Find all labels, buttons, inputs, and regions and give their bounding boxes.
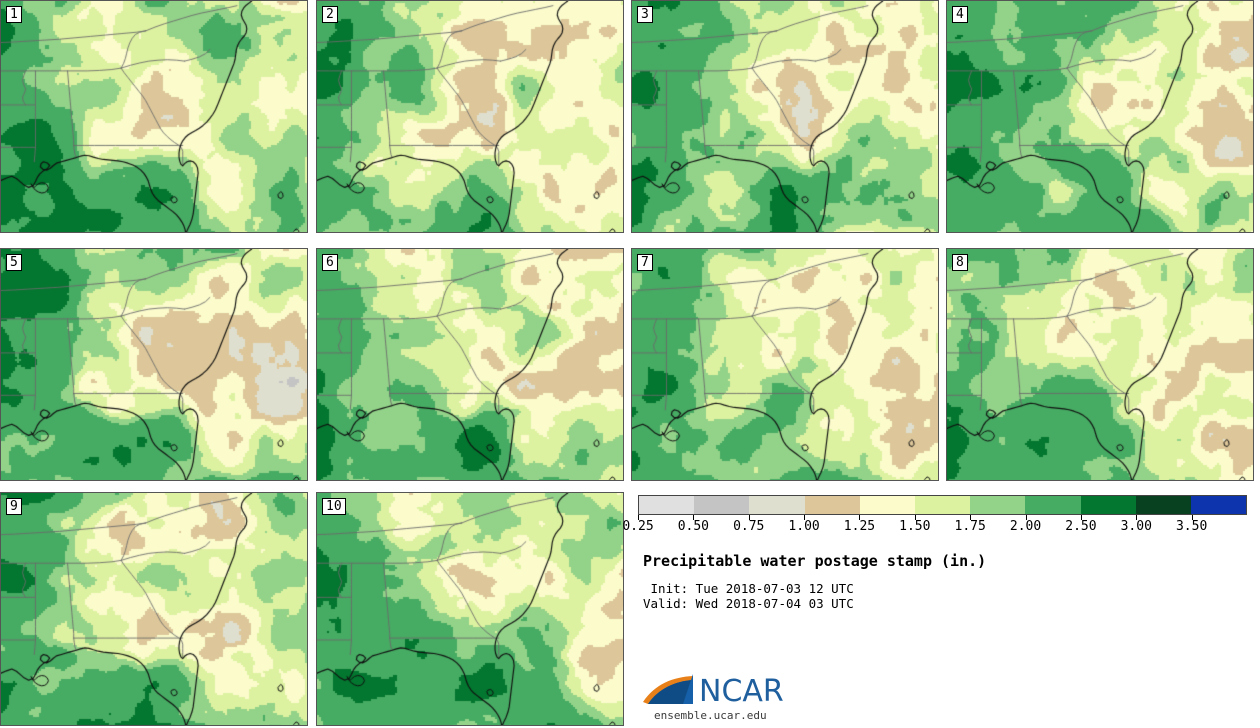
- colorbar-swatch: [749, 496, 804, 514]
- colorbar-swatch: [1025, 496, 1080, 514]
- figure-timestamps: Init: Tue 2018-07-03 12 UTC Valid: Wed 2…: [643, 581, 854, 611]
- ncar-url: ensemble.ucar.edu: [654, 709, 767, 722]
- colorbar-tick-label: 1.50: [885, 519, 945, 534]
- panel-label: 7: [637, 254, 653, 271]
- panel-label: 9: [6, 498, 22, 515]
- panel-label: 8: [952, 254, 968, 271]
- panel-member-7[interactable]: 7: [631, 248, 939, 481]
- panel-member-5[interactable]: 5: [0, 248, 308, 481]
- colorbar-swatch: [639, 496, 694, 514]
- colorbar-swatch: [860, 496, 915, 514]
- colorbar-tick-label: 1.75: [940, 519, 1000, 534]
- precip-water-field: [947, 249, 1254, 481]
- colorbar-swatch: [970, 496, 1025, 514]
- panel-member-8[interactable]: 8: [946, 248, 1254, 481]
- colorbar-tick-label: 2.00: [996, 519, 1056, 534]
- valid-time-line: Valid: Wed 2018-07-04 03 UTC: [643, 596, 854, 611]
- panel-label: 1: [6, 6, 22, 23]
- figure-title: Precipitable water postage stamp (in.): [643, 552, 986, 570]
- colorbar-tick-labels: 0.250.500.751.001.251.501.752.002.503.00…: [638, 519, 1247, 535]
- logo-wordmark: NCAR: [699, 674, 784, 708]
- panel-member-2[interactable]: 2: [316, 0, 624, 233]
- precip-water-field: [632, 1, 939, 233]
- panel-label: 10: [322, 498, 346, 515]
- colorbar-swatch: [694, 496, 749, 514]
- figure-root: 1 2 3 4 5 6 7 8 9 10 0.250.500.7: [0, 0, 1260, 728]
- ncar-logo-mark: NCAR: [641, 668, 791, 708]
- precip-water-field: [632, 249, 939, 481]
- colorbar-swatch: [915, 496, 970, 514]
- precip-water-field: [1, 1, 308, 233]
- panel-label: 6: [322, 254, 338, 271]
- colorbar-swatch: [1136, 496, 1191, 514]
- panel-label: 4: [952, 6, 968, 23]
- colorbar-tick-label: 0.50: [663, 519, 723, 534]
- panel-member-10[interactable]: 10: [316, 492, 624, 726]
- panel-label: 2: [322, 6, 338, 23]
- precip-water-field: [1, 493, 308, 726]
- colorbar-tick-label: 2.50: [1051, 519, 1111, 534]
- panel-label: 3: [637, 6, 653, 23]
- precip-water-field: [317, 249, 624, 481]
- colorbar-tick-label: 3.50: [1162, 519, 1222, 534]
- colorbar-tick-label: 0.75: [719, 519, 779, 534]
- panel-member-6[interactable]: 6: [316, 248, 624, 481]
- panel-member-1[interactable]: 1: [0, 0, 308, 233]
- colorbar-swatch: [1191, 496, 1246, 514]
- colorbar: 0.250.500.751.001.251.501.752.002.503.00…: [638, 495, 1247, 541]
- precip-water-field: [947, 1, 1254, 233]
- ncar-logo[interactable]: NCAR ensemble.ucar.edu: [641, 668, 791, 726]
- colorbar-tick-label: 1.00: [774, 519, 834, 534]
- colorbar-swatch: [1081, 496, 1136, 514]
- panel-member-9[interactable]: 9: [0, 492, 308, 726]
- init-time-line: Init: Tue 2018-07-03 12 UTC: [643, 581, 854, 596]
- colorbar-swatches: [638, 495, 1247, 515]
- colorbar-tick-label: 0.25: [608, 519, 668, 534]
- panel-member-4[interactable]: 4: [946, 0, 1254, 233]
- precip-water-field: [317, 493, 624, 726]
- colorbar-swatch: [805, 496, 860, 514]
- precip-water-field: [317, 1, 624, 233]
- panel-member-3[interactable]: 3: [631, 0, 939, 233]
- colorbar-tick-label: 1.25: [829, 519, 889, 534]
- panel-label: 5: [6, 254, 22, 271]
- colorbar-tick-label: 3.00: [1106, 519, 1166, 534]
- precip-water-field: [1, 249, 308, 481]
